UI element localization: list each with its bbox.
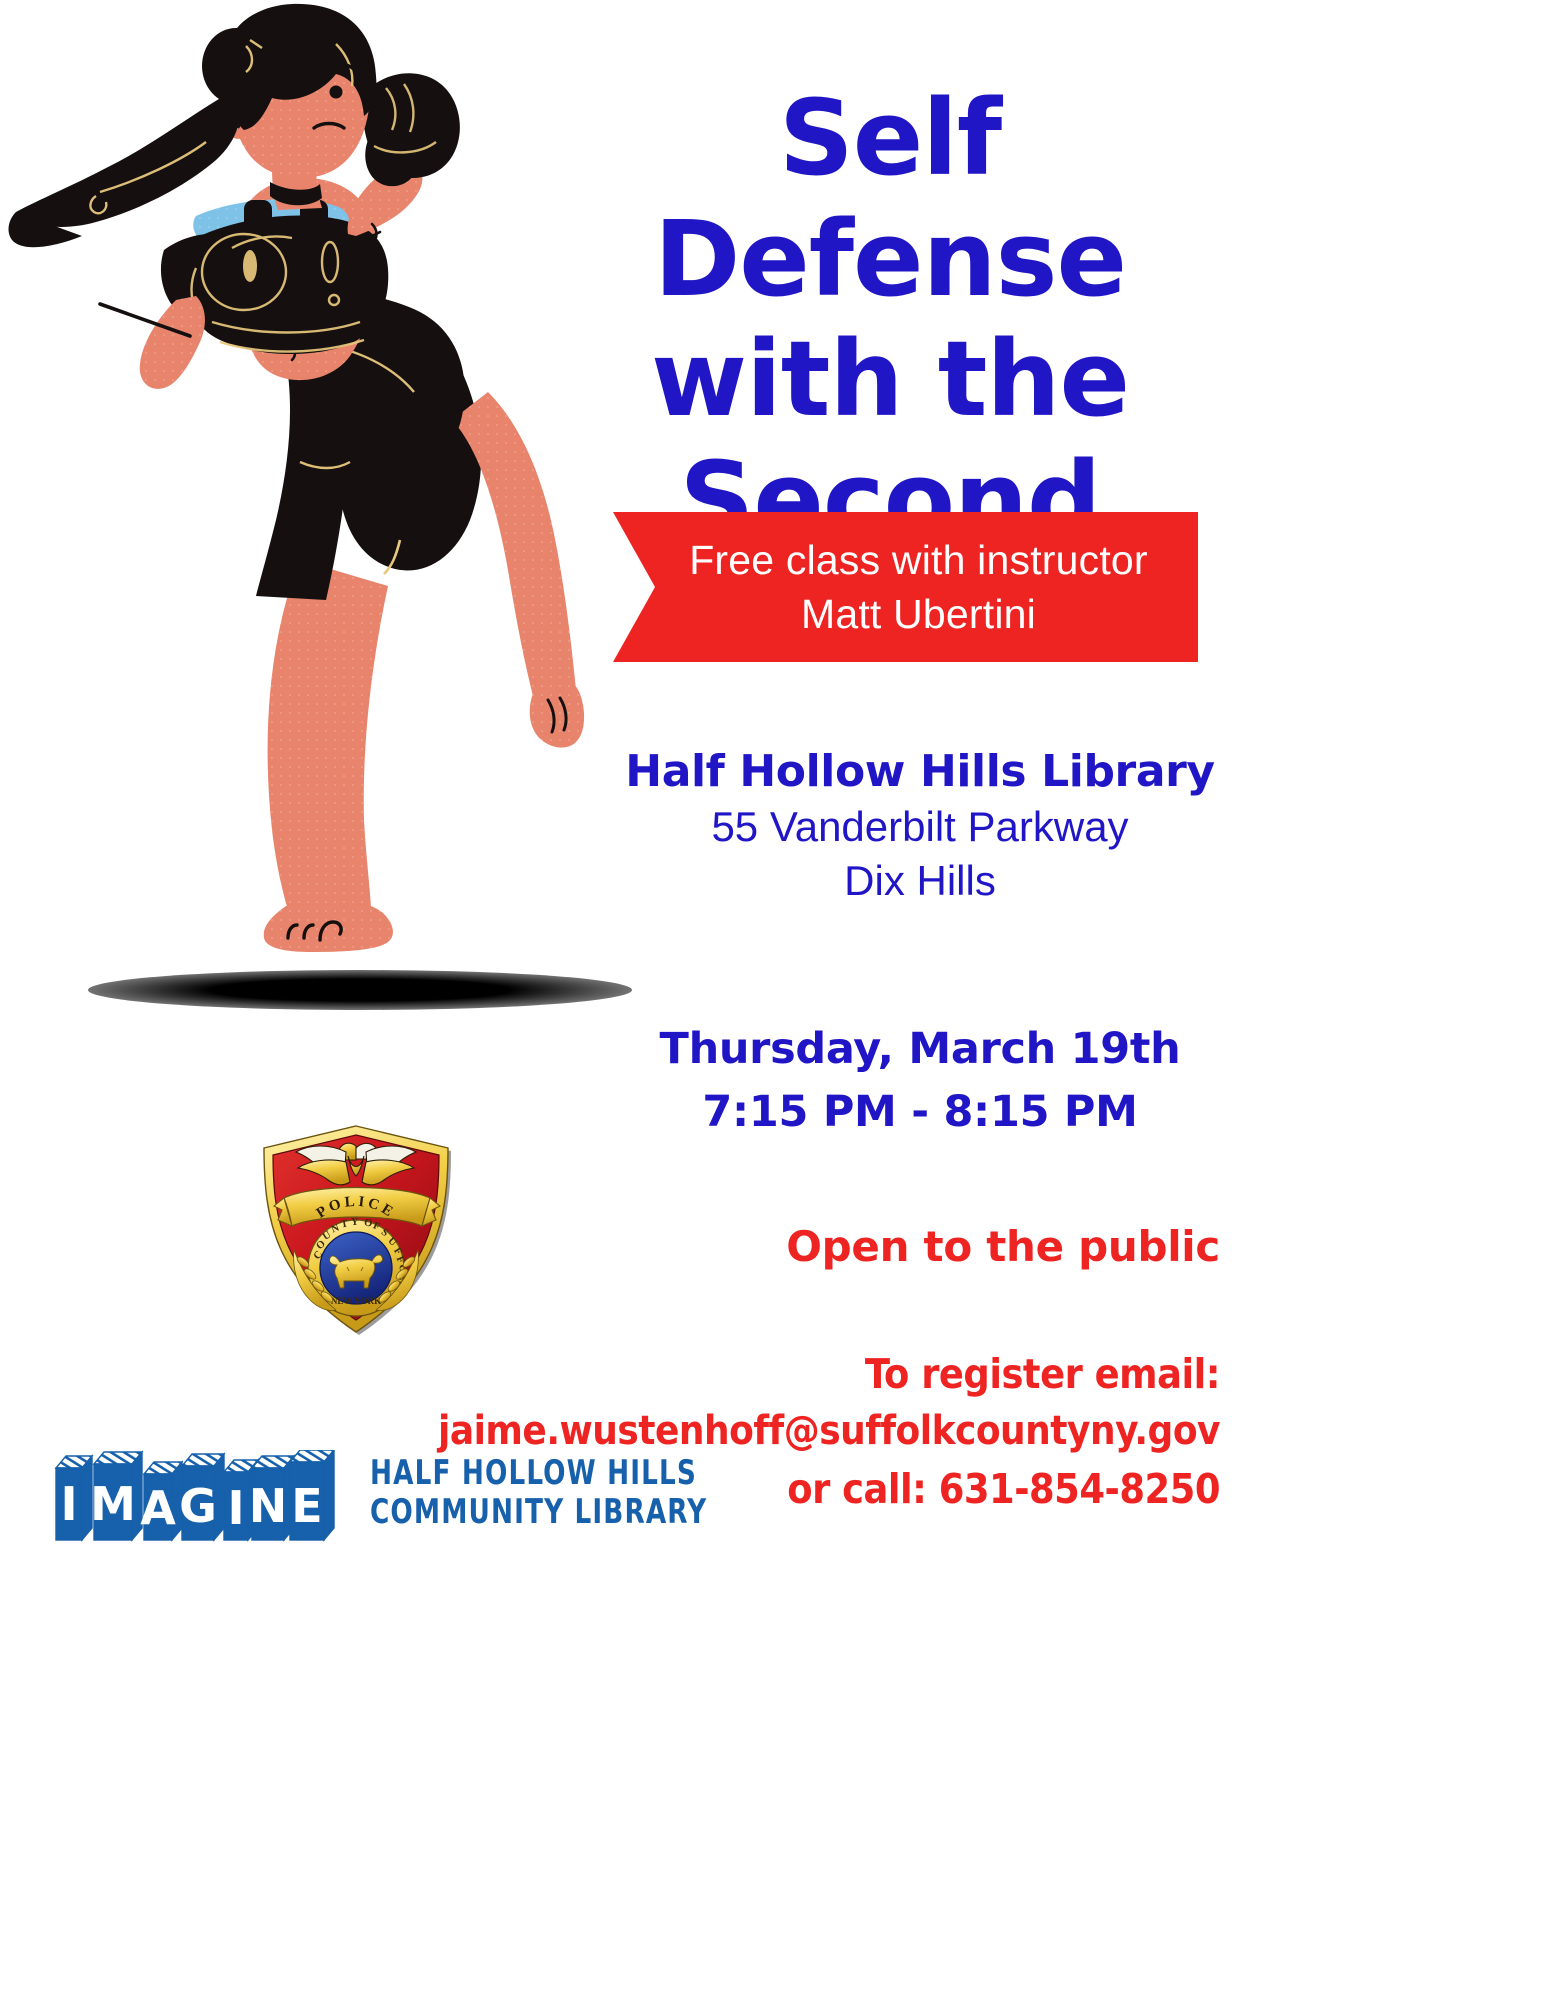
title-line-2: with the bbox=[540, 319, 1240, 440]
event-date: Thursday, March 19th bbox=[620, 1018, 1220, 1081]
library-name-line-1: HALF HOLLOW HILLS bbox=[370, 1454, 707, 1493]
instructor-banner: Free class with instructor Matt Ubertini bbox=[613, 512, 1198, 662]
page-title: Self Defense with the Second bbox=[540, 78, 1240, 561]
badge-newyork-text: NEW YORK bbox=[331, 1296, 381, 1306]
venue-name: Half Hollow Hills Library bbox=[620, 745, 1220, 800]
datetime-block: Thursday, March 19th 7:15 PM - 8:15 PM bbox=[620, 1018, 1220, 1144]
svg-text:A: A bbox=[140, 1481, 176, 1535]
open-to-public-notice: Open to the public bbox=[620, 1222, 1220, 1271]
library-name-block: HALF HOLLOW HILLS COMMUNITY LIBRARY bbox=[370, 1454, 707, 1533]
svg-text:M: M bbox=[90, 1477, 136, 1531]
imagine-letters: I M A G I N E bbox=[60, 1477, 322, 1535]
svg-text:I: I bbox=[60, 1477, 77, 1531]
library-logo: I M A G I N E HALF HOLLOW HILLS COMMUNIT… bbox=[52, 1450, 627, 1560]
title-line-1: Self Defense bbox=[540, 78, 1240, 319]
svg-text:I: I bbox=[227, 1481, 244, 1535]
figure-shadow bbox=[88, 970, 632, 1010]
svg-text:N: N bbox=[249, 1479, 288, 1533]
svg-text:Y: Y bbox=[351, 1217, 359, 1228]
venue-block: Half Hollow Hills Library 55 Vanderbilt … bbox=[620, 745, 1220, 909]
banner-line-2: Matt Ubertini bbox=[775, 587, 1036, 641]
svg-text:E: E bbox=[291, 1479, 322, 1533]
library-name-line-2: COMMUNITY LIBRARY bbox=[370, 1493, 707, 1532]
imagine-wordmark: I M A G I N E bbox=[52, 1450, 362, 1560]
suffolk-county-police-badge: POLICE C O U N T Y O F S U F F O L K NEW… bbox=[248, 1122, 468, 1337]
banner-line-1: Free class with instructor bbox=[663, 533, 1148, 587]
venue-city: Dix Hills bbox=[620, 854, 1220, 909]
register-prompt: To register email: bbox=[430, 1345, 1220, 1403]
svg-text:G: G bbox=[179, 1479, 217, 1533]
event-time: 7:15 PM - 8:15 PM bbox=[620, 1081, 1220, 1144]
venue-street: 55 Vanderbilt Parkway bbox=[620, 800, 1220, 855]
